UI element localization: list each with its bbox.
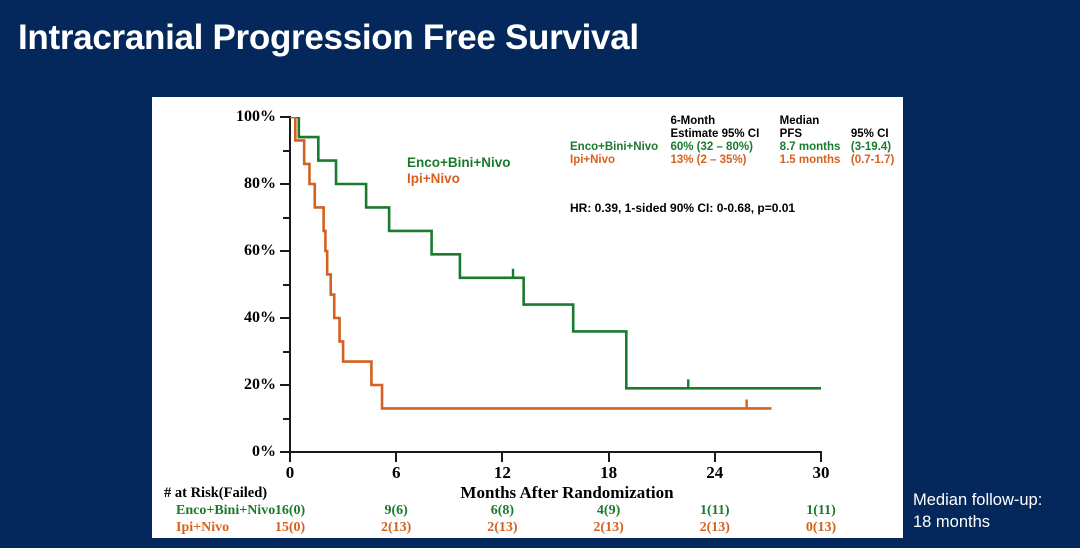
km-curves <box>290 117 821 452</box>
stats-h2-estimate-ci: Estimate 95% CI <box>670 128 779 141</box>
at-risk-value-r0-c3: 4(9) <box>584 503 634 519</box>
at-risk-value-r1-c4: 2(13) <box>690 520 740 536</box>
y-tick-label-100: 100% <box>214 108 276 126</box>
x-tick-0 <box>289 453 291 462</box>
slide-root: Intracranial Progression Free Survival 0… <box>0 0 1080 548</box>
y-tick-80 <box>280 183 289 185</box>
x-tick-label-6: 6 <box>376 463 416 483</box>
stats-h1-median: Median <box>780 115 851 128</box>
at-risk-value-r1-c1: 2(13) <box>371 520 421 536</box>
at-risk-value-r0-c0: 16(0) <box>265 503 315 519</box>
at-risk-row-ipi-nivo: Ipi+Nivo 15(0)2(13)2(13)2(13)2(13)0(13) <box>158 520 903 537</box>
chart-panel: 0%20%40%60%80%100% 0612182430 Months Aft… <box>152 97 903 538</box>
statistics-block: 6-Month Median Estimate 95% CI PFS 95% C… <box>570 115 903 167</box>
at-risk-value-r1-c0: 15(0) <box>265 520 315 536</box>
at-risk-value-r1-c3: 2(13) <box>584 520 634 536</box>
y-tick-label-20: 20% <box>214 376 276 394</box>
y-tick-40 <box>280 317 289 319</box>
stats-row0-ci: (3-19.4) <box>851 141 903 154</box>
page-title: Intracranial Progression Free Survival <box>18 18 639 58</box>
stats-row0-name: Enco+Bini+Nivo <box>570 141 670 154</box>
stats-row1-estimate: 13% (2 – 35%) <box>670 154 779 167</box>
plot-area <box>290 117 821 452</box>
y-tick-60 <box>280 250 289 252</box>
y-tick-0 <box>280 451 289 453</box>
stats-row0-median-pfs: 8.7 months <box>780 141 851 154</box>
stats-row-ipi-nivo: Ipi+Nivo 13% (2 – 35%) 1.5 months (0.7-1… <box>570 154 903 167</box>
y-tick-minor-70 <box>283 217 289 219</box>
x-tick-18 <box>608 453 610 462</box>
median-followup-line1: Median follow-up: <box>913 489 1042 511</box>
at-risk-table: # at Risk(Failed) Enco+Bini+Nivo 16(0)9(… <box>158 485 903 537</box>
x-tick-12 <box>501 453 503 462</box>
at-risk-value-r0-c2: 6(8) <box>477 503 527 519</box>
x-tick-label-18: 18 <box>589 463 629 483</box>
stats-h2-pfs: PFS <box>780 128 851 141</box>
y-tick-minor-50 <box>283 284 289 286</box>
stats-row1-name: Ipi+Nivo <box>570 154 670 167</box>
stats-row1-median-pfs: 1.5 months <box>780 154 851 167</box>
y-tick-20 <box>280 384 289 386</box>
y-tick-label-40: 40% <box>214 309 276 327</box>
x-tick-30 <box>820 453 822 462</box>
y-tick-minor-30 <box>283 351 289 353</box>
stats-row1-ci: (0.7-1.7) <box>851 154 903 167</box>
x-tick-6 <box>395 453 397 462</box>
y-tick-100 <box>280 116 289 118</box>
at-risk-value-r1-c2: 2(13) <box>477 520 527 536</box>
stats-h1-estimate: 6-Month <box>670 115 779 128</box>
x-tick-label-30: 30 <box>801 463 841 483</box>
y-tick-label-0: 0% <box>214 443 276 461</box>
x-tick-label-0: 0 <box>270 463 310 483</box>
at-risk-value-r0-c1: 9(6) <box>371 503 421 519</box>
hazard-ratio-line: HR: 0.39, 1-sided 90% CI: 0-0.68, p=0.01 <box>570 201 795 215</box>
legend-label-enco-bini-nivo: Enco+Bini+Nivo <box>407 155 511 170</box>
median-followup-line2: 18 months <box>913 511 1042 533</box>
legend-label-ipi-nivo: Ipi+Nivo <box>407 171 460 186</box>
stats-row-enco-bini-nivo: Enco+Bini+Nivo 60% (32 – 80%) 8.7 months… <box>570 141 903 154</box>
at-risk-caption: # at Risk(Failed) <box>164 485 267 502</box>
stats-h1-blank <box>570 115 670 128</box>
at-risk-value-r1-c5: 0(13) <box>796 520 846 536</box>
x-tick-24 <box>714 453 716 462</box>
median-followup-note: Median follow-up: 18 months <box>913 489 1042 534</box>
stats-header-row-2: Estimate 95% CI PFS 95% CI <box>570 128 903 141</box>
stats-h2-ci: 95% CI <box>851 128 903 141</box>
at-risk-row1-label: Ipi+Nivo <box>176 520 229 536</box>
x-tick-label-12: 12 <box>482 463 522 483</box>
y-tick-label-60: 60% <box>214 242 276 260</box>
stats-h1-ci <box>851 115 903 128</box>
statistics-table: 6-Month Median Estimate 95% CI PFS 95% C… <box>570 115 903 167</box>
stats-row0-estimate: 60% (32 – 80%) <box>670 141 779 154</box>
at-risk-value-r0-c4: 1(11) <box>690 503 740 519</box>
at-risk-value-r0-c5: 1(11) <box>796 503 846 519</box>
at-risk-row-enco-bini-nivo: Enco+Bini+Nivo 16(0)9(6)6(8)4(9)1(11)1(1… <box>158 503 903 520</box>
y-tick-minor-10 <box>283 418 289 420</box>
stats-header-row-1: 6-Month Median <box>570 115 903 128</box>
stats-h2-blank <box>570 128 670 141</box>
at-risk-row0-label: Enco+Bini+Nivo <box>176 503 275 519</box>
x-tick-label-24: 24 <box>695 463 735 483</box>
y-tick-minor-90 <box>283 150 289 152</box>
y-tick-label-80: 80% <box>214 175 276 193</box>
